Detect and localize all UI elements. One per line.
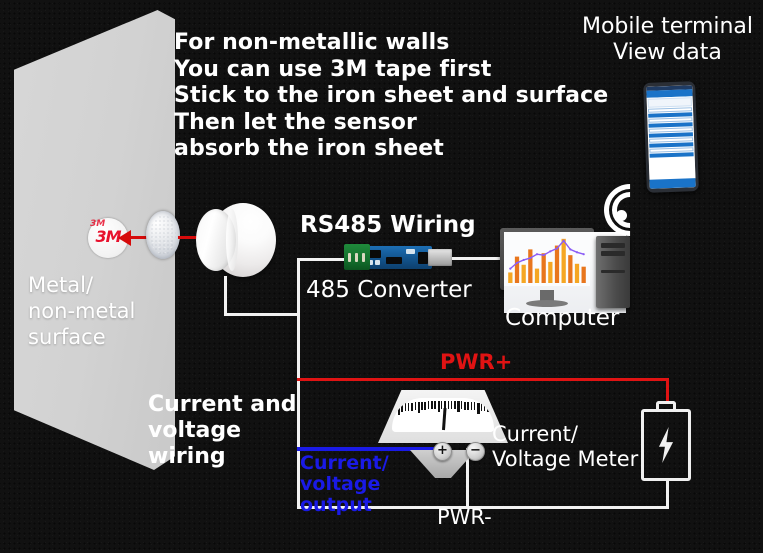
- meter-tick-minor: [401, 404, 403, 412]
- meter-needle: [442, 408, 446, 430]
- wall-label-line-2: non-metal: [28, 298, 173, 324]
- meter-tick-major: [477, 403, 479, 414]
- instruction-line-3: Stick to the iron sheet and surface: [174, 83, 604, 110]
- computer-label: Computer: [505, 305, 619, 331]
- wifi-icon: [600, 180, 652, 226]
- mobile-terminal-title: Mobile terminal View data: [570, 14, 763, 66]
- terminal-screw-1: [348, 253, 351, 262]
- monitor-chart: [504, 232, 590, 286]
- meter-tick-minor: [461, 401, 463, 409]
- meter-tick-major: [398, 404, 400, 415]
- meter-tick-minor: [421, 402, 423, 410]
- cv-output-line-1: Current/: [300, 453, 450, 474]
- phone-data-row: [650, 152, 694, 158]
- mobile-title-line-2: View data: [570, 40, 763, 66]
- rs485-title: RS485 Wiring: [300, 212, 476, 238]
- battery-bolt-icon: [641, 401, 691, 481]
- meter-label-line-2: Voltage Meter: [492, 447, 638, 472]
- meter-label: Current/ Voltage Meter: [492, 422, 638, 472]
- meter-dial: [392, 398, 494, 432]
- meter-tick-minor: [415, 402, 417, 410]
- meter-tick-minor: [454, 401, 456, 409]
- power-positive-wire-horizontal: [297, 378, 669, 381]
- sensor-cable-horizontal: [224, 313, 300, 316]
- meter-tick-minor: [428, 401, 430, 409]
- rs485-converter-board: [344, 243, 452, 273]
- sensor-seam: [226, 209, 238, 271]
- cv-wiring-line-2: voltage wiring: [148, 418, 318, 470]
- converter-chip-2: [386, 257, 402, 264]
- mobile-phone: [643, 81, 699, 193]
- meter-tick-minor: [467, 402, 469, 410]
- signal-output-label: Current/ voltage output: [300, 453, 450, 516]
- meter-label-line-1: Current/: [492, 422, 638, 447]
- instruction-line-5: absorb the iron sheet: [174, 136, 604, 163]
- phone-tab-bar: [649, 178, 695, 189]
- phone-screen: [646, 85, 696, 189]
- current-voltage-wiring-label: Current and voltage wiring: [148, 392, 318, 470]
- phone-data-list: [647, 96, 696, 180]
- phone-summary-block: [648, 97, 692, 108]
- meter-tick-minor: [471, 402, 473, 410]
- rs485-wire-vertical: [297, 258, 300, 316]
- meter-tick-minor: [490, 404, 492, 412]
- dome-sensor: [196, 203, 276, 279]
- meter-tick-major: [438, 401, 440, 412]
- meter-tick-minor: [464, 402, 466, 410]
- usb-connector: [428, 249, 452, 266]
- instruction-line-2: You can use 3M tape first: [174, 57, 604, 84]
- instruction-line-4: Then let the sensor: [174, 110, 604, 137]
- meter-tick-minor: [451, 401, 453, 409]
- instruction-line-1: For non-metallic walls: [174, 30, 604, 57]
- meter-terminal-negative[interactable]: −: [466, 442, 485, 461]
- meter-tick-minor: [434, 401, 436, 409]
- meter-tick-minor: [484, 403, 486, 411]
- meter-tick-minor: [448, 401, 450, 409]
- wall-label-line-3: surface: [28, 324, 173, 350]
- converter-pcb: [362, 246, 432, 269]
- wall-surface-label: Metal/ non-metal surface: [28, 272, 173, 350]
- meter-tick-major: [457, 401, 459, 412]
- cv-wiring-line-1: Current and: [148, 392, 318, 418]
- meter-tick-minor: [408, 403, 410, 411]
- meter-tick-minor: [474, 402, 476, 410]
- diagram-canvas: Metal/ non-metal surface For non-metalli…: [0, 0, 763, 553]
- converter-pad-3: [406, 249, 415, 254]
- meter-tick-minor: [481, 403, 483, 411]
- meter-tick-minor: [441, 401, 443, 409]
- terminal-screw-2: [355, 253, 358, 262]
- wifi-dot: [616, 210, 627, 221]
- terminal-screw-3: [362, 253, 365, 262]
- power-negative-wire-to-battery: [666, 478, 669, 509]
- tower-slot-3: [601, 270, 625, 273]
- converter-label: 485 Converter: [306, 277, 472, 303]
- instruction-text: For non-metallic walls You can use 3M ta…: [174, 30, 604, 163]
- arrow-left-icon: [118, 230, 131, 246]
- tower-slot-2: [601, 251, 625, 256]
- meter-tick-minor: [424, 402, 426, 410]
- iron-sheet-disc: [146, 211, 180, 259]
- computer-tower: [596, 236, 630, 308]
- sensor-cable-vertical: [224, 276, 227, 315]
- meter-tick-minor: [487, 404, 489, 412]
- rs485-wire-to-converter: [297, 258, 349, 261]
- power-positive-label: PWR+: [440, 350, 512, 374]
- mobile-title-line-1: Mobile terminal: [570, 14, 763, 40]
- cv-output-line-2: voltage output: [300, 474, 450, 516]
- converter-pad-2: [375, 260, 380, 265]
- meter-tick-minor: [405, 403, 407, 411]
- meter-tick-major: [418, 402, 420, 413]
- meter-tick-minor: [431, 401, 433, 409]
- converter-chip-3: [418, 252, 428, 264]
- meter-tick-minor: [411, 403, 413, 411]
- wall-label-line-1: Metal/: [28, 272, 173, 298]
- usb-wire-to-computer: [449, 257, 501, 260]
- converter-terminal-block: [344, 244, 370, 270]
- tower-slot-1: [601, 243, 625, 248]
